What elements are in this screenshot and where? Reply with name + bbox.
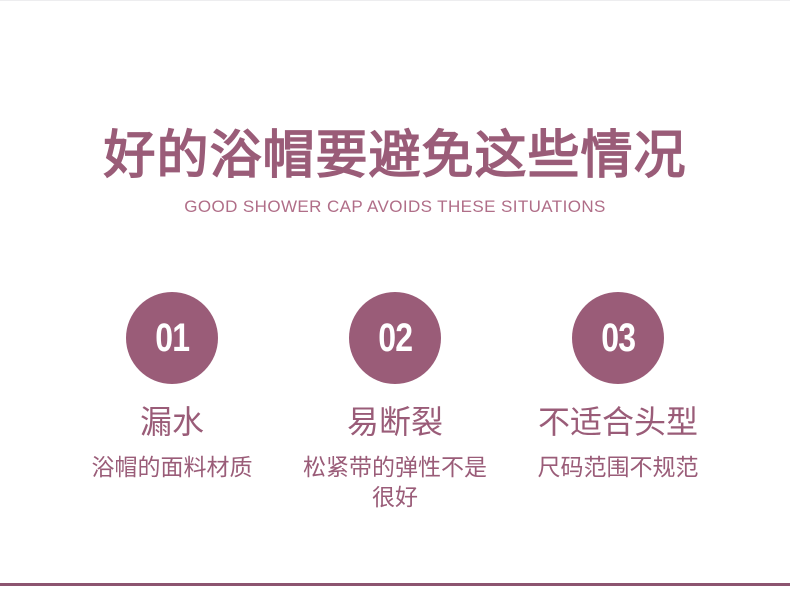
- card-title: 不适合头型: [538, 403, 698, 441]
- top-divider: [0, 0, 790, 1]
- badge-number-label: 01: [155, 318, 189, 358]
- bottom-divider: [0, 583, 790, 586]
- situation-card: 02 易断裂 松紧带的弹性不是很好: [284, 292, 506, 512]
- situation-card: 03 不适合头型 尺码范围不规范: [507, 292, 729, 482]
- page-subtitle: GOOD SHOWER CAP AVOIDS THESE SITUATIONS: [0, 197, 790, 217]
- card-title: 易断裂: [347, 403, 443, 441]
- situation-card: 01 漏水 浴帽的面料材质: [61, 292, 283, 482]
- promo-banner: 好的浴帽要避免这些情况 GOOD SHOWER CAP AVOIDS THESE…: [0, 0, 790, 589]
- step-badge-03: 03: [572, 292, 664, 384]
- card-description: 尺码范围不规范: [538, 452, 699, 482]
- card-description: 松紧带的弹性不是很好: [295, 452, 495, 512]
- page-title: 好的浴帽要避免这些情况: [0, 126, 790, 186]
- card-description: 浴帽的面料材质: [92, 452, 253, 482]
- situation-card-list: 01 漏水 浴帽的面料材质 02 易断裂 松紧带的弹性不是很好 03 不适合头型…: [61, 292, 729, 512]
- badge-number-label: 02: [378, 318, 412, 358]
- step-badge-01: 01: [126, 292, 218, 384]
- banner-header: 好的浴帽要避免这些情况 GOOD SHOWER CAP AVOIDS THESE…: [0, 126, 790, 217]
- card-title: 漏水: [140, 403, 204, 441]
- step-badge-02: 02: [349, 292, 441, 384]
- badge-number-label: 03: [601, 318, 635, 358]
